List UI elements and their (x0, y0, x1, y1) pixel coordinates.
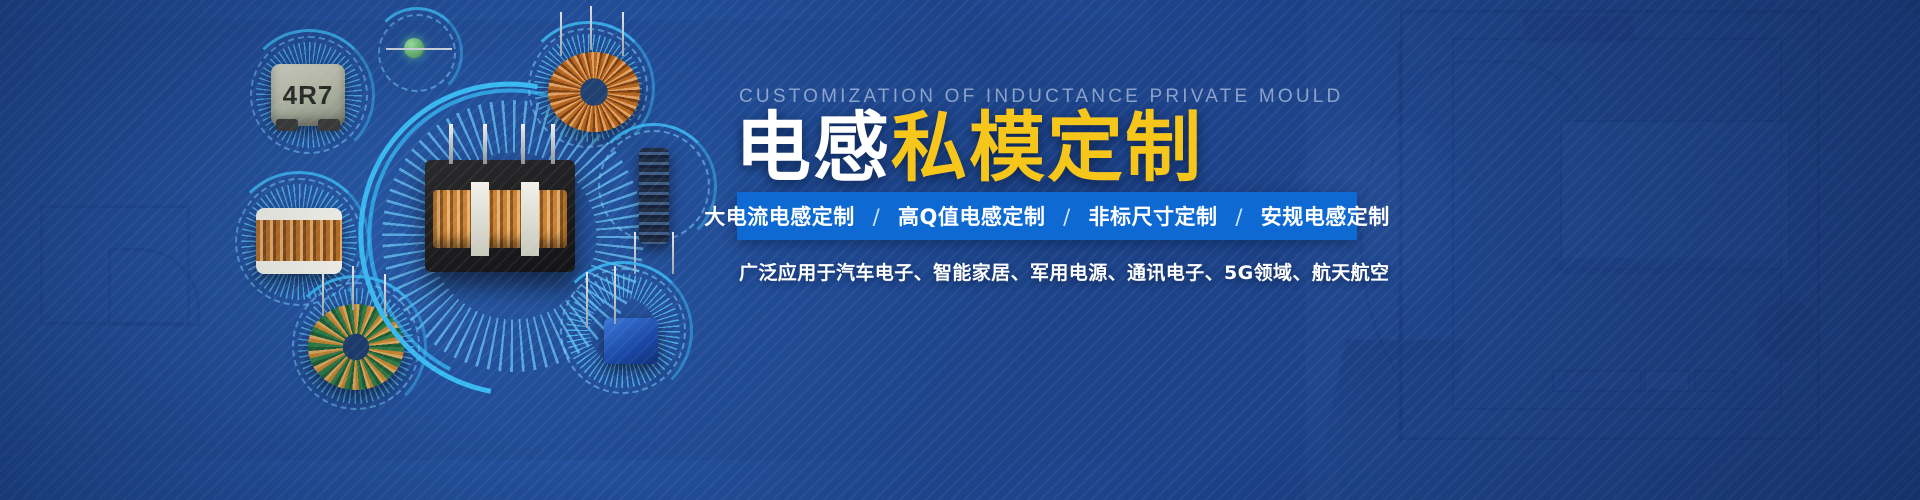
feature-separator-1: / (1053, 205, 1081, 229)
component-leads (386, 48, 452, 50)
feature-separator-2: / (1225, 205, 1253, 229)
smd-inductor-code: 4R7 (283, 80, 334, 111)
banner-description: 广泛应用于汽车电子、智能家居、军用电源、通讯电子、5G领域、航天航空 (739, 258, 1389, 285)
green-toroid-lead-2 (352, 266, 354, 310)
headline-gold-part: 私模定制 (891, 103, 1203, 192)
headline-white-part: 电感 (735, 103, 891, 192)
feature-item-0: 大电流电感定制 (704, 205, 855, 229)
toroid-lead-2 (590, 6, 592, 50)
green-toroid-lead-1 (322, 272, 324, 316)
product-drum-core-inductor (256, 208, 342, 274)
feature-item-1: 高Q值电感定制 (898, 205, 1045, 229)
feature-pill-bar: 大电流电感定制 / 高Q值电感定制 / 非标尺寸定制 / 安规电感定制 (737, 192, 1357, 240)
feature-separator-0: / (863, 205, 891, 229)
toroid-lead-1 (560, 12, 562, 56)
feature-item-3: 安规电感定制 (1261, 205, 1390, 229)
feature-pill-text: 大电流电感定制 / 高Q值电感定制 / 非标尺寸定制 / 安规电感定制 (704, 201, 1389, 231)
banner-headline: 电感私模定制 (735, 110, 1203, 186)
product-collage: 4R7 (0, 0, 720, 500)
toroid-lead-3 (622, 12, 624, 56)
banner-text-block: CUSTOMIZATION OF INDUCTANCE PRIVATE MOUL… (735, 0, 1835, 500)
rod-lead-2 (672, 232, 674, 274)
product-smd-power-inductor: 4R7 (271, 64, 345, 126)
feature-item-2: 非标尺寸定制 (1089, 205, 1218, 229)
promo-banner: 4R7 (0, 0, 1920, 500)
